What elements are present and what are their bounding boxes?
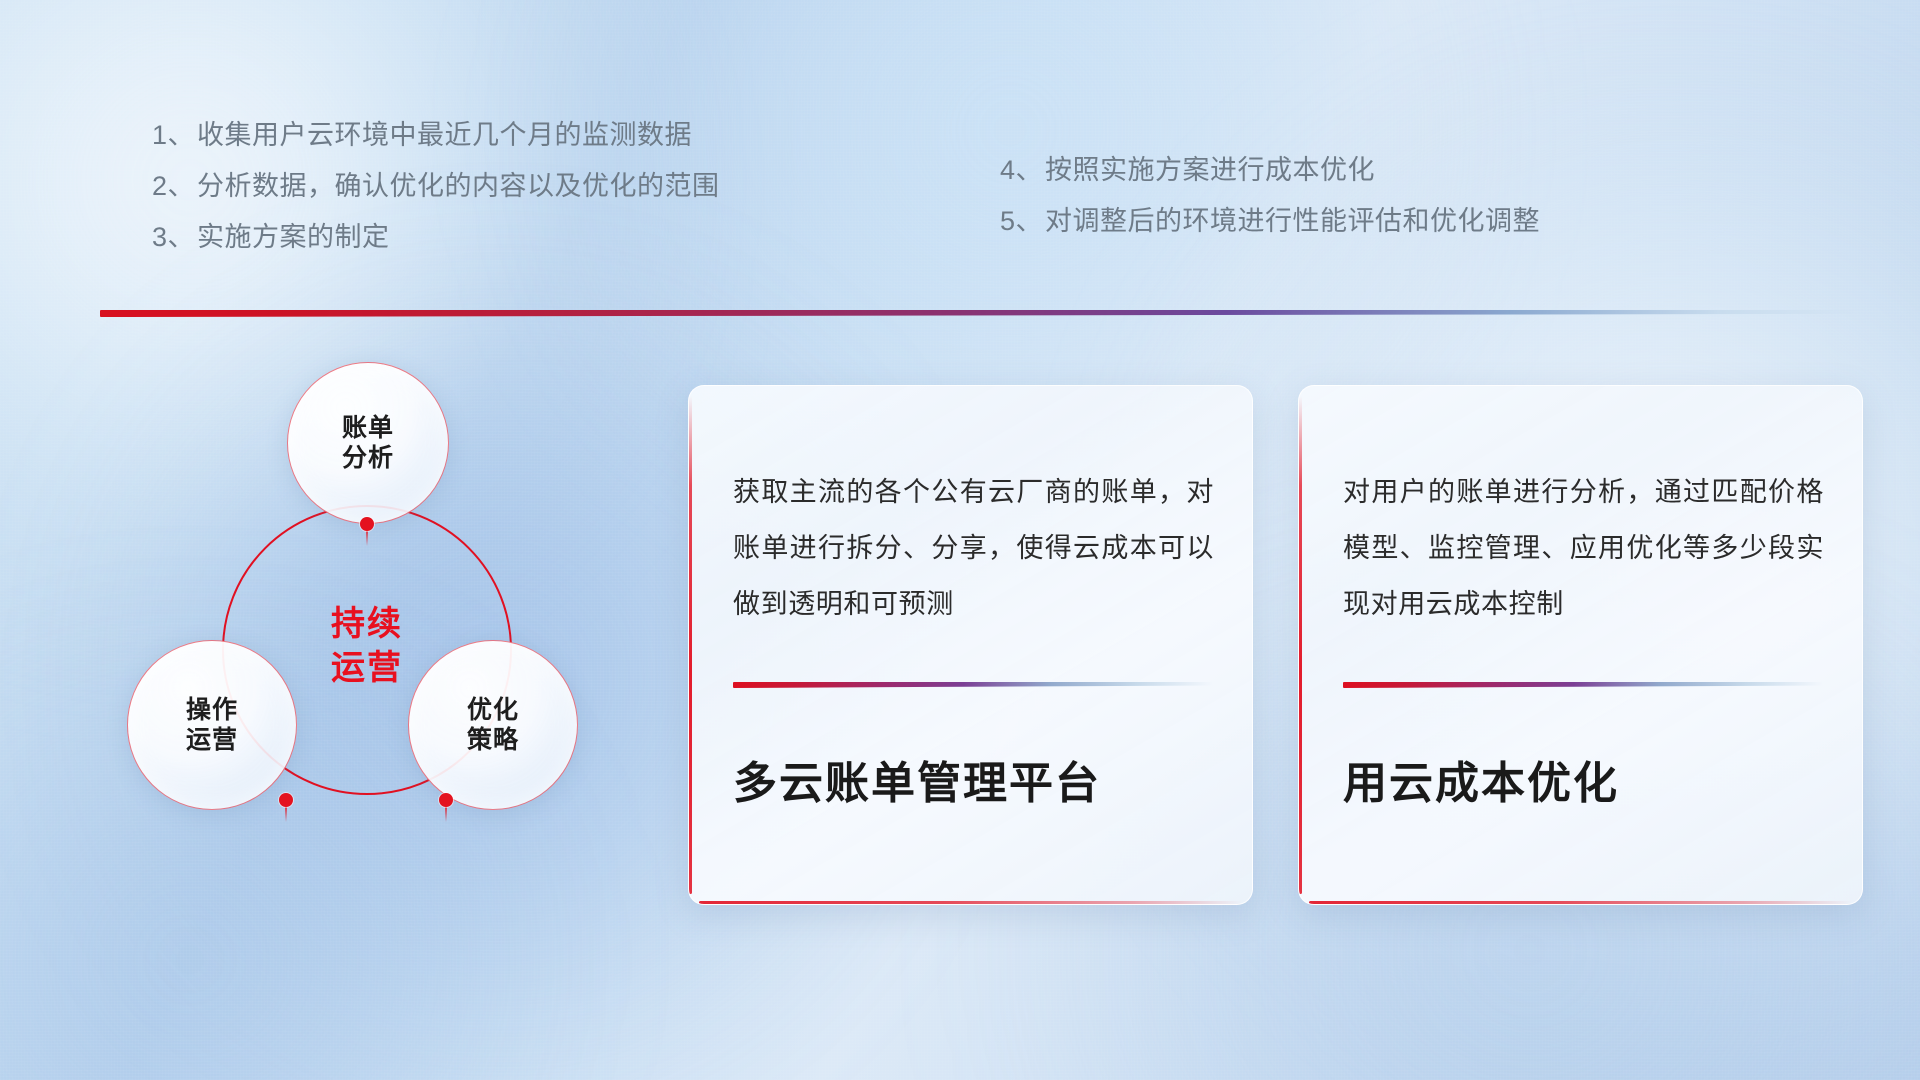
- venn-node-label-line1: 优化: [467, 695, 519, 726]
- venn-node-label-line1: 操作: [186, 695, 238, 726]
- venn-junction-dot-top: [360, 517, 374, 531]
- process-steps-right-column: 4、 按照实施方案进行成本优化 5、 对调整后的环境进行性能评估和优化调整: [1000, 157, 1540, 259]
- step-number: 4、: [1000, 157, 1043, 184]
- venn-junction-dot-right: [439, 793, 453, 807]
- section-divider-line: [100, 310, 1860, 317]
- process-step-item: 1、 收集用户云环境中最近几个月的监测数据: [152, 122, 720, 149]
- card-title: 多云账单管理平台: [733, 758, 1222, 811]
- card-accent-rule: [1343, 682, 1823, 688]
- step-number: 2、: [152, 173, 195, 200]
- step-text: 实施方案的制定: [197, 224, 390, 251]
- feature-card-multicloud-billing[interactable]: 获取主流的各个公有云厂商的账单，对账单进行拆分、分享，使得云成本可以做到透明和可…: [688, 385, 1253, 905]
- venn-node-optimization-strategy[interactable]: 优化 策略: [408, 640, 578, 810]
- step-number: 3、: [152, 224, 195, 251]
- step-text: 分析数据，确认优化的内容以及优化的范围: [197, 173, 720, 200]
- venn-junction-dot-left: [279, 793, 293, 807]
- process-step-item: 3、 实施方案的制定: [152, 224, 720, 251]
- venn-node-label-line2: 策略: [467, 725, 519, 756]
- venn-connector-tail-top: [366, 530, 368, 546]
- process-step-item: 5、 对调整后的环境进行性能评估和优化调整: [1000, 208, 1540, 235]
- step-text: 按照实施方案进行成本优化: [1045, 157, 1375, 184]
- process-step-item: 4、 按照实施方案进行成本优化: [1000, 157, 1540, 184]
- process-steps-left-column: 1、 收集用户云环境中最近几个月的监测数据 2、 分析数据，确认优化的内容以及优…: [152, 122, 720, 275]
- slide-canvas: 1、 收集用户云环境中最近几个月的监测数据 2、 分析数据，确认优化的内容以及优…: [0, 0, 1920, 1080]
- venn-connector-tail-left: [285, 806, 287, 822]
- venn-center-label-line1: 持续: [222, 602, 512, 646]
- step-number: 5、: [1000, 208, 1043, 235]
- venn-node-label-line2: 运营: [186, 725, 238, 756]
- venn-connector-tail-right: [445, 806, 447, 822]
- venn-node-label: 账单 分析: [342, 413, 394, 474]
- venn-node-bill-analysis[interactable]: 账单 分析: [287, 362, 449, 524]
- card-description: 对用户的账单进行分析，通过匹配价格模型、监控管理、应用优化等多少段实现对用云成本…: [1343, 464, 1824, 632]
- feature-card-cloud-cost-optimization[interactable]: 对用户的账单进行分析，通过匹配价格模型、监控管理、应用优化等多少段实现对用云成本…: [1298, 385, 1863, 905]
- venn-node-label-line1: 账单: [342, 413, 394, 444]
- venn-node-operation[interactable]: 操作 运营: [127, 640, 297, 810]
- card-accent-rule: [733, 682, 1213, 688]
- card-title: 用云成本优化: [1343, 758, 1832, 811]
- step-text: 收集用户云环境中最近几个月的监测数据: [197, 122, 692, 149]
- venn-node-label-line2: 分析: [342, 443, 394, 474]
- continuous-operation-venn-diagram: 持续 运营 账单 分析 操作 运营 优化 策略: [90, 350, 650, 950]
- venn-node-label: 优化 策略: [467, 695, 519, 756]
- process-step-item: 2、 分析数据，确认优化的内容以及优化的范围: [152, 173, 720, 200]
- step-number: 1、: [152, 122, 195, 149]
- venn-node-label: 操作 运营: [186, 695, 238, 756]
- card-description: 获取主流的各个公有云厂商的账单，对账单进行拆分、分享，使得云成本可以做到透明和可…: [733, 464, 1214, 632]
- step-text: 对调整后的环境进行性能评估和优化调整: [1045, 208, 1540, 235]
